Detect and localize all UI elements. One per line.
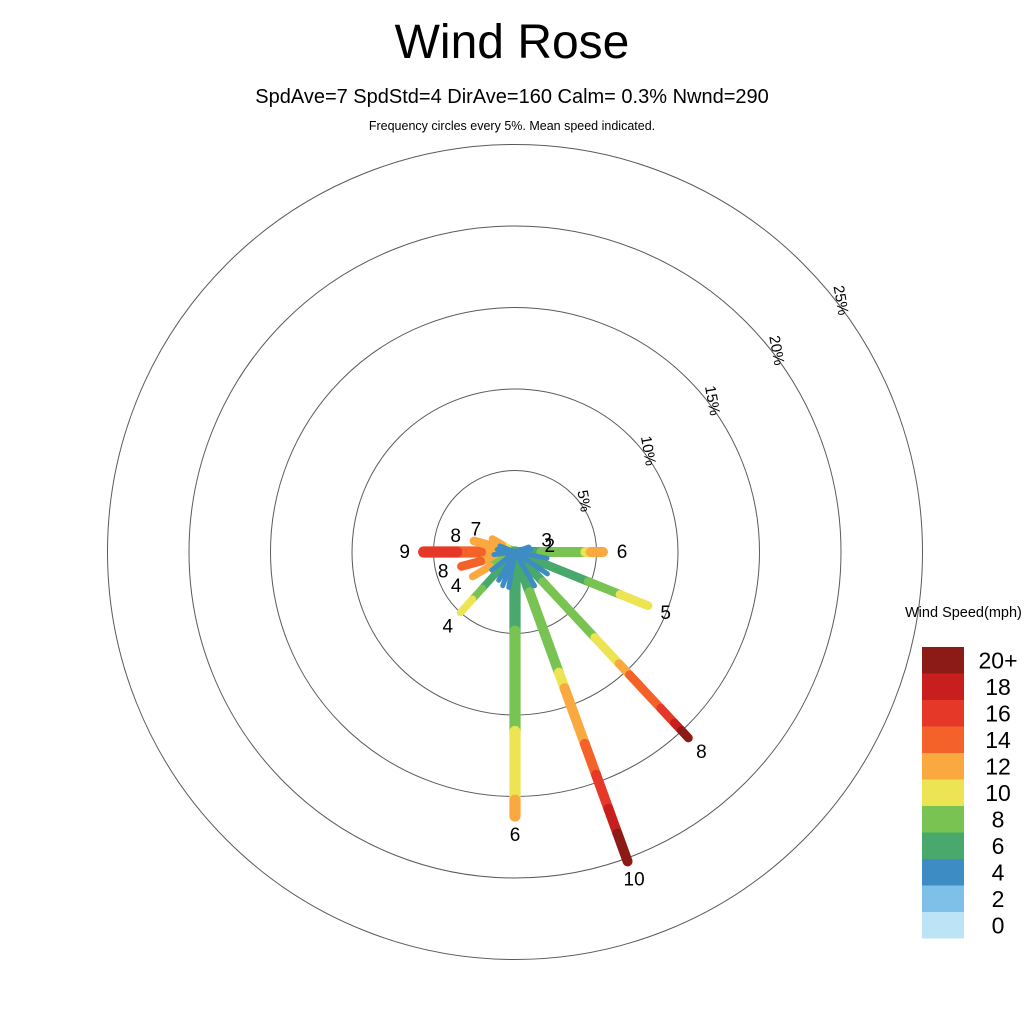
petal-segment — [681, 731, 688, 738]
legend-label: 4 — [992, 859, 1005, 885]
petal-mean-speed-label: 3 — [541, 530, 552, 551]
petal-mean-speed-label: 8 — [438, 561, 449, 582]
wind-rose-chart: Wind Rose SpdAve=7 SpdStd=4 DirAve=160 C… — [0, 0, 1024, 1024]
legend-title: Wind Speed(mph) — [905, 605, 1022, 621]
legend-label: 14 — [985, 727, 1011, 753]
wind-speed-legend[interactable]: 20+181614121086420 — [922, 647, 1018, 939]
wind-petal — [515, 552, 688, 738]
legend-label: 18 — [985, 674, 1011, 700]
page-title: Wind Rose — [395, 16, 630, 69]
petal-mean-speed-label: 6 — [510, 825, 521, 846]
legend-swatch[interactable] — [922, 912, 964, 939]
petal-segment — [588, 582, 620, 595]
petal-segment — [530, 592, 559, 672]
legend-swatch[interactable] — [922, 647, 964, 674]
wind-rose-figure: Wind Rose SpdAve=7 SpdStd=4 DirAve=160 C… — [0, 0, 1024, 1024]
petal-segment — [473, 566, 491, 576]
radial-tick-label: 10% — [637, 435, 659, 468]
legend-label: 12 — [985, 753, 1011, 779]
radial-tick-label: 25% — [830, 284, 852, 317]
petal-segment — [596, 775, 608, 809]
legend-swatch[interactable] — [922, 833, 964, 860]
legend-label: 10 — [985, 780, 1011, 806]
legend-swatch[interactable] — [922, 674, 964, 701]
petal-mean-speed-label: 10 — [624, 869, 645, 890]
legend-swatch[interactable] — [922, 886, 964, 913]
note-line: Frequency circles every 5%. Mean speed i… — [369, 119, 655, 133]
petal-mean-speed-label: 9 — [399, 542, 410, 563]
petal-mean-speed-label: 8 — [696, 742, 707, 763]
legend-swatch[interactable] — [922, 700, 964, 727]
petal-segment — [460, 599, 472, 612]
petal-layer — [424, 539, 689, 861]
petal-segment — [461, 561, 480, 566]
petal-mean-speed-label: 5 — [660, 603, 671, 624]
petal-segment — [629, 675, 660, 708]
legend-swatch[interactable] — [922, 727, 964, 754]
legend-swatch[interactable] — [922, 806, 964, 833]
petal-mean-speed-label: 7 — [471, 519, 482, 540]
legend-label: 2 — [992, 886, 1005, 912]
radial-tick-label: 20% — [765, 334, 787, 367]
petal-segment — [595, 638, 619, 664]
petal-mean-speed-label: 6 — [617, 542, 628, 563]
legend-label: 16 — [985, 700, 1011, 726]
legend-swatch[interactable] — [922, 859, 964, 886]
stats-line: SpdAve=7 SpdStd=4 DirAve=160 Calm= 0.3% … — [255, 86, 769, 108]
petal-segment — [620, 594, 648, 605]
legend-swatch[interactable] — [922, 753, 964, 780]
legend-label: 20+ — [978, 647, 1017, 673]
radial-tick-label: 5% — [573, 489, 594, 513]
petal-mean-speed-label: 4 — [442, 617, 453, 638]
petal-mean-speed-label: 4 — [451, 576, 462, 597]
legend-label: 6 — [992, 833, 1005, 859]
petal-segment — [565, 688, 585, 744]
petal-segment — [617, 834, 627, 862]
petal-mean-speed-label: 8 — [450, 526, 461, 547]
legend-label: 0 — [992, 912, 1005, 938]
legend-swatch[interactable] — [922, 780, 964, 807]
radial-tick-labels: 5%10%15%20%25% — [573, 284, 851, 513]
radial-tick-label: 15% — [701, 384, 723, 417]
wind-petal — [515, 552, 628, 861]
legend-label: 8 — [992, 806, 1005, 832]
